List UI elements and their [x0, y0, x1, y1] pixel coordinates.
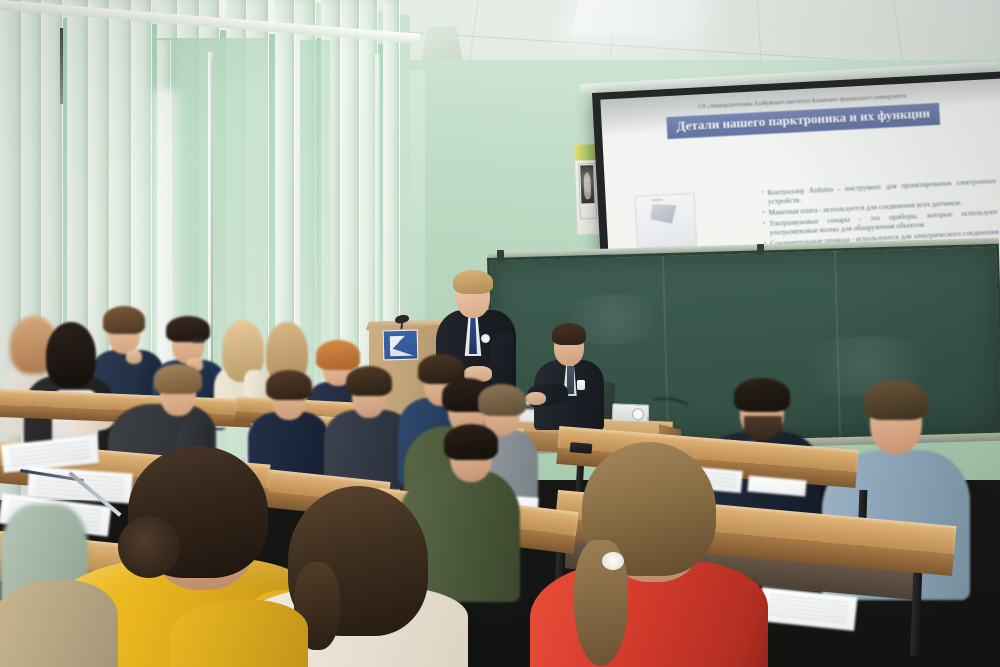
glasses-icon — [192, 338, 205, 343]
hair — [346, 366, 392, 396]
portrait-photo-icon — [580, 165, 594, 203]
desk-timer-clock — [612, 403, 650, 422]
body — [0, 580, 118, 667]
chalkboard-hanger-2 — [757, 244, 764, 255]
bullet-marker-icon: • — [763, 220, 766, 237]
university-emblem-icon — [390, 336, 414, 357]
hair — [266, 370, 312, 400]
arduino-chip-icon — [650, 203, 678, 225]
person-foreground-left — [0, 580, 120, 667]
jury-tie — [567, 366, 574, 394]
clock-face-icon — [632, 408, 644, 420]
hand — [126, 350, 142, 364]
jury-hair — [552, 323, 586, 345]
hair-bun — [118, 516, 180, 578]
figure-caption-top: Arduino — [652, 197, 664, 202]
blind-wand[interactable] — [60, 28, 63, 104]
person-jury-member — [534, 326, 606, 424]
hair-tie-icon — [602, 552, 624, 570]
body — [170, 600, 308, 667]
lecture-hall-photo: СП «Университетская» Елабужского институ… — [0, 0, 1000, 667]
bullet-marker-icon: • — [762, 209, 765, 218]
jury-badge-icon — [577, 380, 585, 390]
person-foreground-left-2 — [170, 600, 310, 667]
person-attendee-red-jacket — [530, 440, 770, 667]
speaker-hair — [453, 270, 493, 294]
hair — [154, 364, 202, 394]
arduino-board-figure: Arduino — [634, 193, 697, 249]
hair — [478, 384, 526, 416]
slide-title: Детали нашего парктроника и их функции — [673, 106, 934, 133]
hair — [444, 424, 498, 460]
hair — [734, 378, 790, 412]
beard — [744, 416, 782, 442]
ceiling-lamp-secondary-icon — [571, 0, 699, 34]
speaker-badge-icon — [481, 334, 490, 343]
hair — [46, 322, 96, 388]
chalkboard-hanger — [497, 250, 504, 261]
hair — [864, 380, 928, 420]
poster-portrait-card-1 — [578, 163, 597, 220]
bullet-marker-icon: • — [761, 189, 764, 206]
